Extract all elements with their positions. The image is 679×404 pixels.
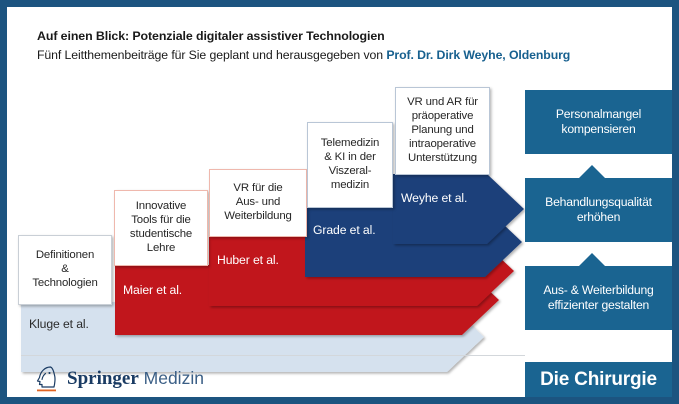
infographic-frame: Auf einen Blick: Potenziale digitaler as… bbox=[0, 0, 679, 404]
logo-medizin-word: Medizin bbox=[139, 368, 204, 388]
topic-card-telemedizin-ki[interactable]: Telemedizin& KI in derViszeral-medizin bbox=[307, 122, 393, 208]
springer-medizin-logo: Springer Medizin bbox=[35, 364, 204, 394]
springer-logo-text: Springer Medizin bbox=[67, 368, 204, 390]
infographic-canvas: Auf einen Blick: Potenziale digitaler as… bbox=[7, 7, 672, 397]
goal-box-personalmangel[interactable]: Personalmangelkompensieren bbox=[525, 90, 672, 154]
topic-card-definitionen[interactable]: Definitionen&Technologien bbox=[18, 235, 112, 305]
band-label-kluge: Kluge et al. bbox=[29, 317, 89, 331]
journal-title-badge: Die Chirurgie bbox=[525, 362, 672, 397]
band-label-weyhe: Weyhe et al. bbox=[401, 191, 467, 205]
topic-card-innovative-tools[interactable]: InnovativeTools für diestudentischeLehre bbox=[114, 190, 208, 266]
topic-card-vr-ar-praeoperativ[interactable]: VR und AR fürpräoperativePlanung undintr… bbox=[395, 87, 490, 175]
band-label-grade: Grade et al. bbox=[313, 223, 375, 237]
band-label-huber: Huber et al. bbox=[217, 253, 279, 267]
springer-knight-icon bbox=[35, 364, 60, 394]
footer-divider bbox=[21, 355, 525, 356]
logo-springer-word: Springer bbox=[67, 368, 139, 389]
topic-card-vr-aus-weiterbildung[interactable]: VR für dieAus- undWeiterbildung bbox=[209, 169, 307, 237]
band-label-maier: Maier et al. bbox=[123, 283, 182, 297]
goal-box-behandlungsqualitaet[interactable]: Behandlungsqualitäterhöhen bbox=[525, 178, 672, 242]
goal-box-ausbildung[interactable]: Aus- & Weiterbildungeffizienter gestalte… bbox=[525, 266, 672, 330]
